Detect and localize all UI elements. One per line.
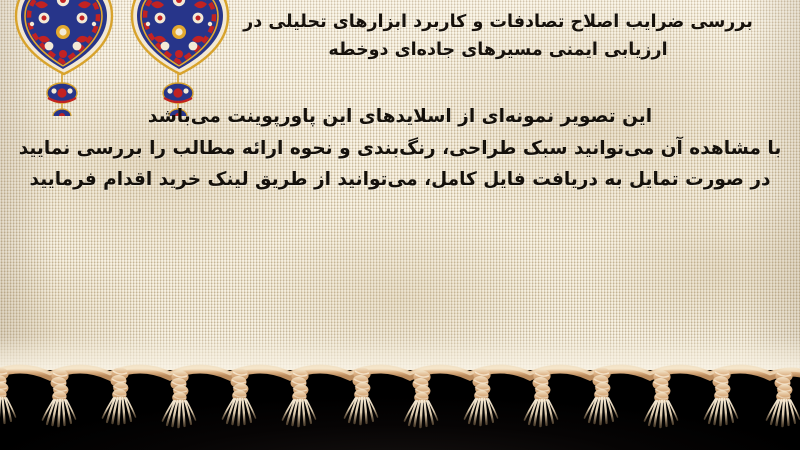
slide-canvas: بررسی ضرایب اصلاح تصادفات و کاربرد ابزار… [0,0,800,450]
slide-title: بررسی ضرایب اصلاح تصادفات و کاربرد ابزار… [218,8,778,65]
slide-text-layer: بررسی ضرایب اصلاح تصادفات و کاربرد ابزار… [0,0,800,384]
slide-body: این تصویر نمونه‌ای از اسلایدهای این پاور… [0,108,800,190]
slide-body-line-1: این تصویر نمونه‌ای از اسلایدهای این پاور… [0,108,800,127]
slide-title-line-2: ارزیابی ایمنی مسیرهای جاده‌ای دوخطه [328,40,667,60]
slide-body-line-3: در صورت تمایل به دریافت فایل کامل، می‌تو… [0,171,800,190]
slide-body-line-2: با مشاهده آن می‌توانید سبک طراحی، رنگ‌بن… [0,140,800,159]
slide-title-line-1: بررسی ضرایب اصلاح تصادفات و کاربرد ابزار… [243,12,753,32]
